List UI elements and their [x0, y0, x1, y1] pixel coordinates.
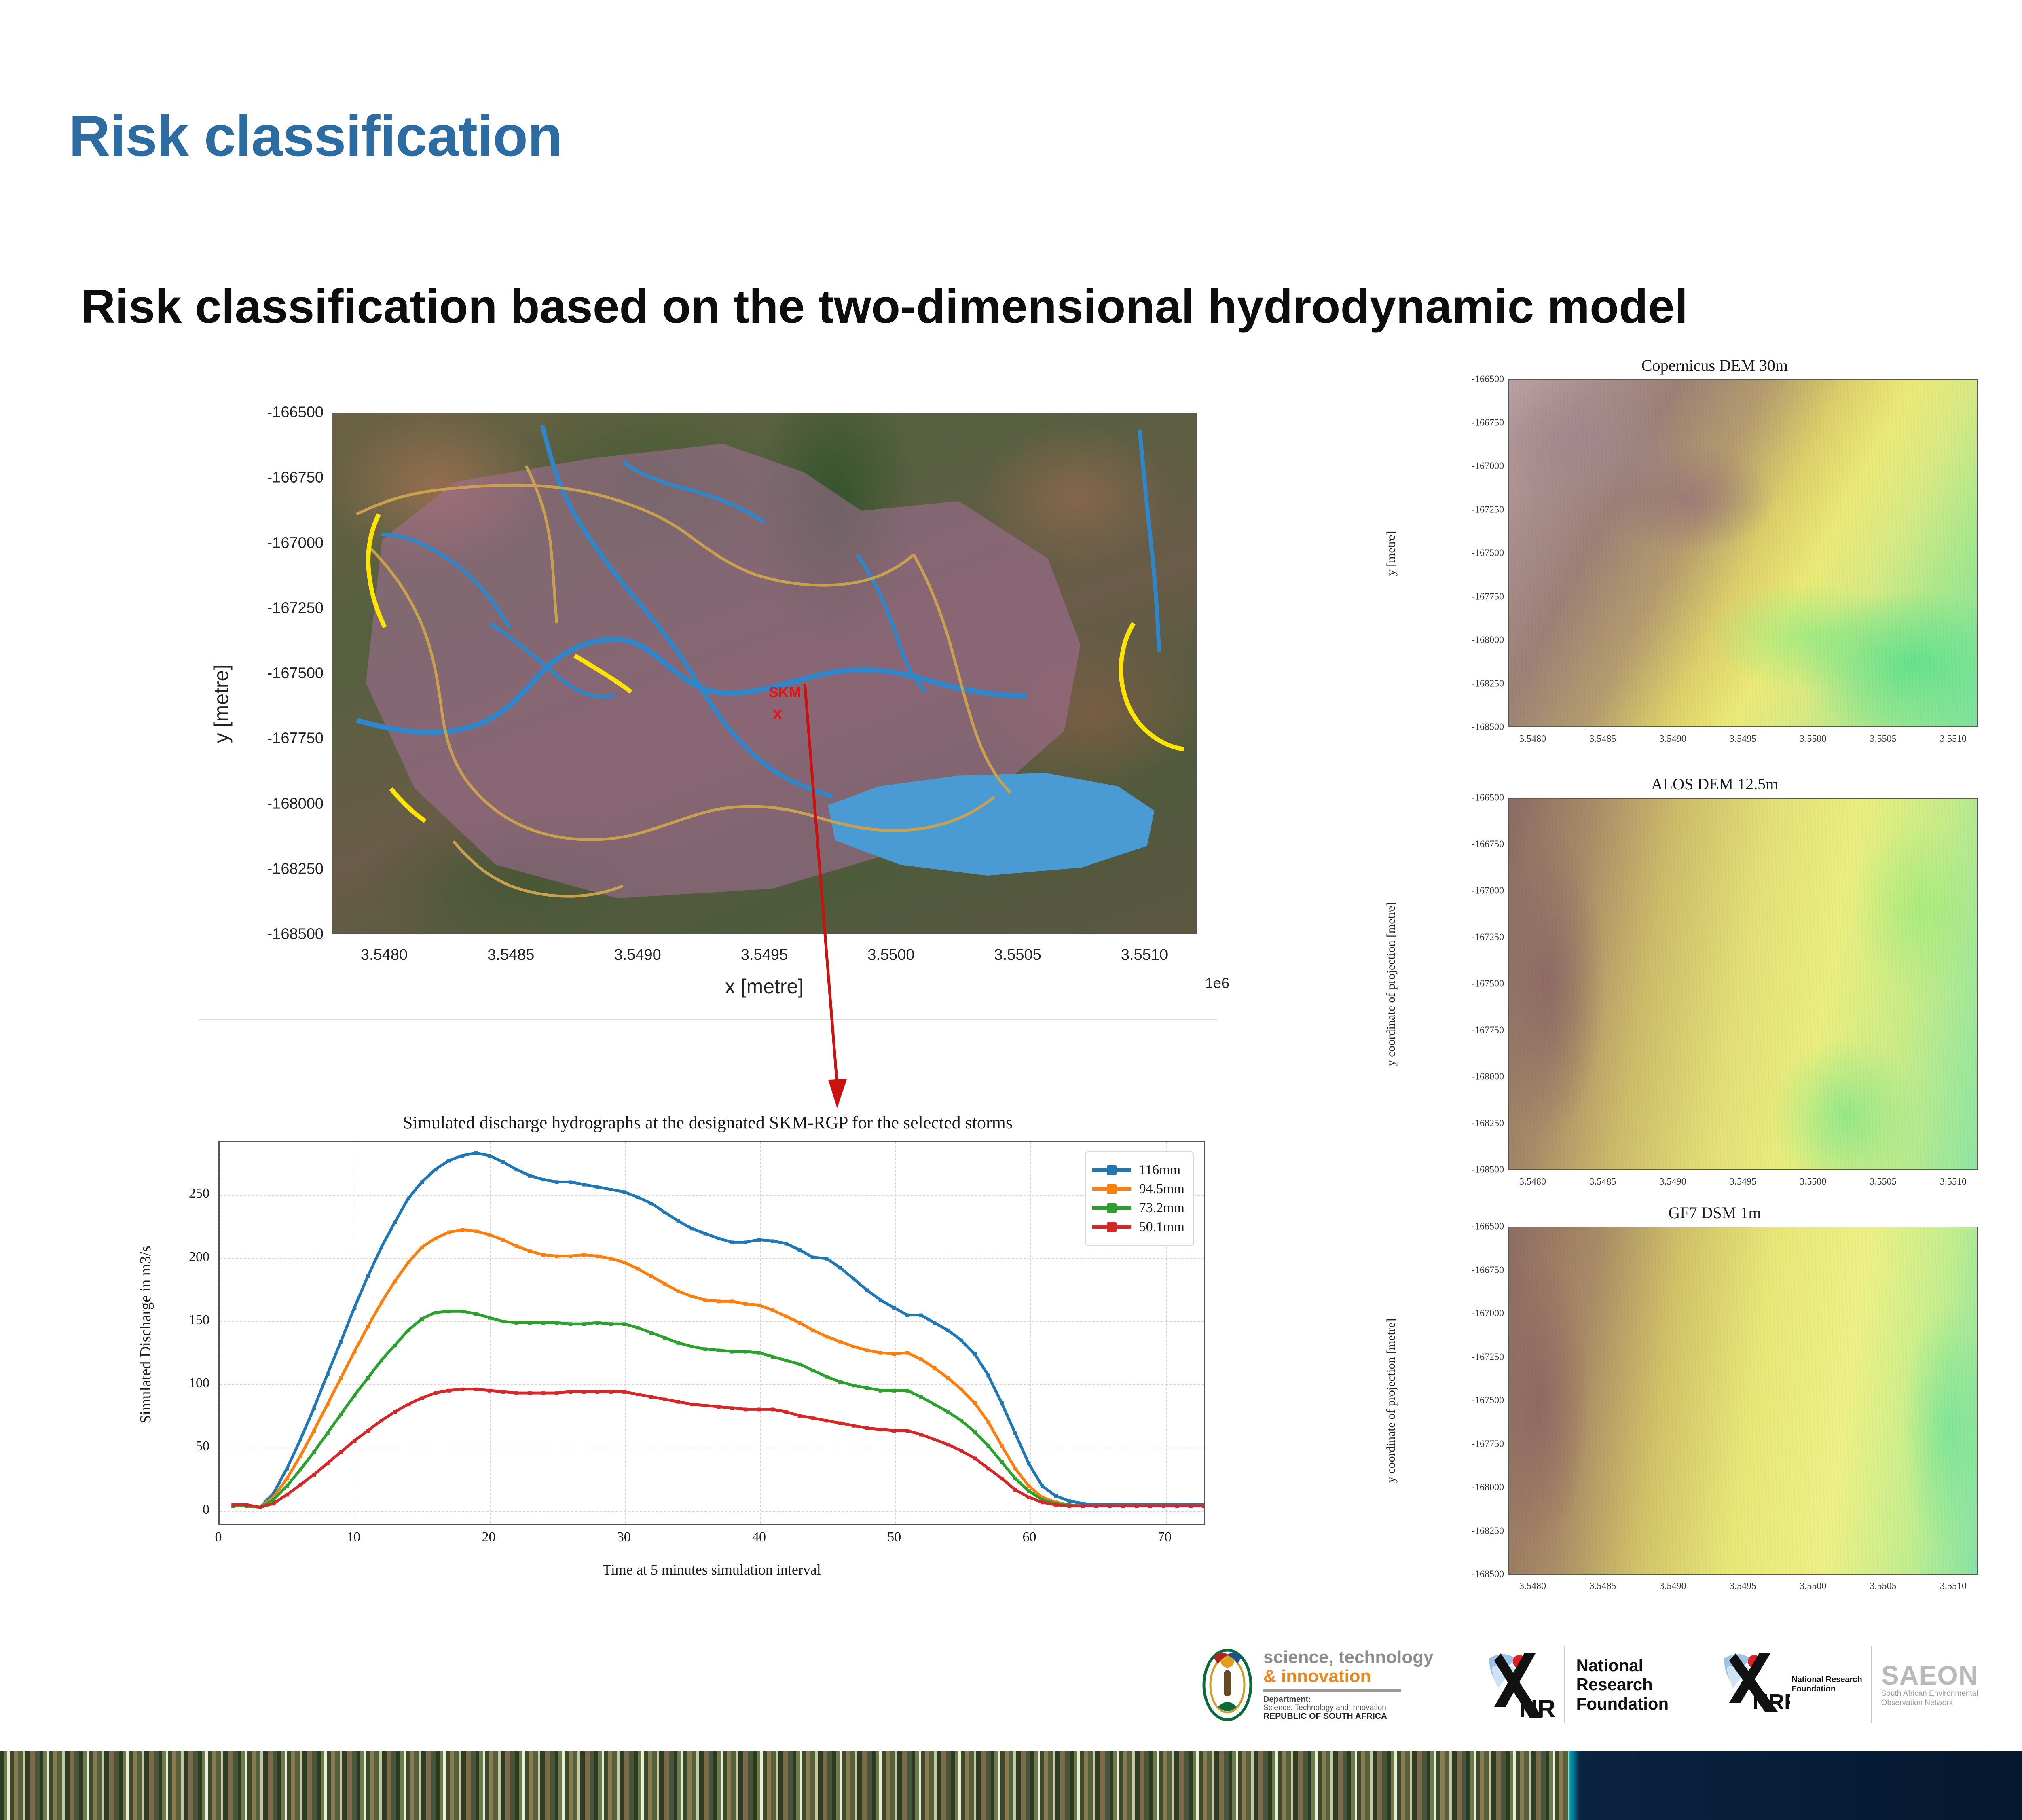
- dsti-rule: [1263, 1689, 1401, 1692]
- series-marker: [582, 1183, 586, 1187]
- series-marker: [973, 1457, 977, 1460]
- series-marker: [501, 1390, 505, 1394]
- series-marker: [582, 1253, 586, 1257]
- series-marker: [488, 1316, 491, 1320]
- series-marker: [838, 1380, 842, 1384]
- series-marker: [905, 1389, 909, 1393]
- dem-y-tick: -167250: [1472, 932, 1504, 943]
- series-marker: [1000, 1460, 1004, 1464]
- svg-text:NRF: NRF: [1519, 1695, 1555, 1723]
- series-marker: [1068, 1499, 1071, 1503]
- series-marker: [825, 1335, 828, 1338]
- satmap-y-tick: -166500: [267, 404, 324, 421]
- dsti-line1: science, technology: [1263, 1648, 1434, 1667]
- series-marker: [1189, 1505, 1193, 1508]
- legend-color-swatch: [1092, 1168, 1131, 1172]
- dem-y-tick: -167750: [1472, 591, 1504, 602]
- series-marker: [933, 1366, 936, 1370]
- dem-y-tick: -168000: [1472, 1072, 1504, 1083]
- series-marker: [1027, 1489, 1031, 1493]
- series-marker: [757, 1238, 761, 1242]
- legend-item[interactable]: 50.1mm: [1092, 1219, 1184, 1235]
- dem-y-axis-label: y coordinate of projection [metre]: [1384, 1318, 1398, 1483]
- dsti-line4: Science, Technology and Innovation: [1263, 1704, 1434, 1712]
- series-marker: [677, 1400, 680, 1404]
- series-marker: [596, 1255, 599, 1258]
- page-title: Risk classification: [69, 103, 562, 169]
- series-marker: [1013, 1431, 1017, 1435]
- series-marker: [649, 1331, 653, 1335]
- dem-y-tick: -168250: [1472, 678, 1504, 689]
- hydrograph-title: Simulated discharge hydrographs at the d…: [403, 1112, 1013, 1133]
- dem-x-tick: 3.5505: [1870, 1177, 1897, 1187]
- series-marker: [299, 1483, 302, 1487]
- series-marker: [703, 1232, 707, 1236]
- series-marker: [838, 1266, 842, 1270]
- dem-y-tick: -167500: [1472, 548, 1504, 559]
- series-marker: [1108, 1505, 1112, 1508]
- series-marker: [528, 1249, 532, 1253]
- dem-x-tick: 3.5480: [1519, 734, 1546, 745]
- series-marker: [892, 1306, 896, 1310]
- satmap-y-tick: -167500: [267, 665, 324, 682]
- series-marker: [326, 1372, 330, 1376]
- series-marker: [420, 1317, 424, 1321]
- series-marker: [434, 1237, 437, 1240]
- series-marker: [582, 1390, 586, 1394]
- dem-y-ticks: -166500-166750-167000-167250-167500-1677…: [1409, 798, 1506, 1170]
- hydrograph-y-axis-label: Simulated Discharge in m3/s: [137, 1246, 154, 1423]
- series-marker: [474, 1151, 478, 1155]
- series-marker: [717, 1237, 721, 1240]
- series-marker: [366, 1325, 370, 1328]
- series-marker: [798, 1248, 802, 1252]
- series-marker: [744, 1407, 747, 1411]
- series-marker: [1000, 1477, 1004, 1480]
- series-marker: [973, 1401, 977, 1405]
- series-line: [233, 1311, 1204, 1507]
- satmap-x-tick: 3.5485: [487, 946, 534, 964]
- series-marker: [960, 1449, 963, 1453]
- satmap-y-ticks: -166500-166750-167000-167250-167500-1677…: [231, 413, 324, 934]
- dem-y-tick: -168500: [1472, 1165, 1504, 1176]
- legend-item[interactable]: 73.2mm: [1092, 1200, 1184, 1216]
- series-marker: [407, 1261, 410, 1264]
- series-marker: [757, 1351, 761, 1355]
- series-marker: [717, 1405, 721, 1409]
- series-marker: [946, 1329, 950, 1332]
- series-marker: [838, 1422, 842, 1425]
- series-marker: [1054, 1494, 1058, 1498]
- dem-comparison-stack: Copernicus DEM 30my [metre]-166500-16675…: [1387, 356, 2022, 1618]
- series-marker: [663, 1211, 666, 1214]
- series-marker: [326, 1431, 330, 1435]
- strip-earth-imagery: [0, 1751, 1569, 1820]
- series-marker: [447, 1389, 451, 1393]
- legend-label: 116mm: [1139, 1162, 1181, 1178]
- dem-y-tick: -168250: [1472, 1526, 1504, 1536]
- series-marker: [838, 1340, 842, 1344]
- series-marker: [1202, 1505, 1204, 1508]
- logo-dsti: science, technology & innovation Departm…: [1197, 1634, 1434, 1735]
- series-marker: [555, 1255, 559, 1258]
- hydrograph-y-tick: 150: [189, 1312, 209, 1328]
- series-marker: [541, 1178, 545, 1181]
- series-marker: [339, 1340, 343, 1344]
- satmap-y-tick: -168000: [267, 795, 324, 813]
- satmap-x-tick: 3.5510: [1121, 946, 1168, 964]
- series-marker: [1175, 1505, 1179, 1508]
- series-marker: [730, 1299, 734, 1303]
- hydrograph-x-tick: 0: [215, 1530, 222, 1545]
- dem-panel-title: Copernicus DEM 30m: [1641, 356, 1788, 375]
- divider: [1871, 1646, 1872, 1723]
- series-marker: [771, 1239, 774, 1243]
- series-line: [233, 1153, 1204, 1507]
- series-marker: [1027, 1462, 1031, 1465]
- series-marker: [420, 1396, 424, 1400]
- series-marker: [690, 1345, 694, 1348]
- series-marker: [811, 1329, 815, 1332]
- series-marker: [326, 1462, 330, 1465]
- series-marker: [811, 1416, 815, 1420]
- series-marker: [1027, 1496, 1031, 1499]
- series-marker: [771, 1407, 774, 1411]
- series-marker: [717, 1348, 721, 1352]
- series-marker: [1135, 1505, 1138, 1508]
- dem-panel-title: ALOS DEM 12.5m: [1651, 775, 1778, 794]
- series-marker: [852, 1424, 855, 1428]
- series-marker: [703, 1347, 707, 1351]
- series-marker: [865, 1426, 869, 1430]
- satmap-y-tick: -166750: [267, 469, 324, 487]
- series-marker: [596, 1185, 599, 1189]
- series-marker: [286, 1477, 289, 1480]
- hydrograph-x-tick: 10: [347, 1530, 360, 1545]
- dem-y-tick: -167500: [1472, 979, 1504, 990]
- series-marker: [771, 1308, 774, 1312]
- series-marker: [447, 1310, 451, 1313]
- hydrograph-x-tick: 30: [617, 1530, 631, 1545]
- series-marker: [393, 1410, 397, 1414]
- series-marker: [865, 1348, 869, 1352]
- series-marker: [677, 1341, 680, 1345]
- series-marker: [933, 1403, 936, 1406]
- series-marker: [407, 1197, 410, 1200]
- series-marker: [663, 1398, 666, 1401]
- series-marker: [892, 1429, 896, 1433]
- series-marker: [946, 1376, 950, 1380]
- series-marker: [852, 1277, 855, 1280]
- series-marker: [299, 1438, 302, 1441]
- series-marker: [690, 1227, 694, 1230]
- series-marker: [811, 1256, 815, 1259]
- dem-x-tick: 3.5480: [1519, 1177, 1546, 1187]
- slide-root: Risk classification Risk classification …: [0, 0, 2022, 1820]
- series-marker: [649, 1274, 653, 1278]
- series-marker: [488, 1154, 491, 1158]
- series-marker: [515, 1168, 518, 1171]
- series-marker: [366, 1429, 370, 1433]
- series-marker: [946, 1443, 950, 1446]
- dem-y-axis-label: y coordinate of projection [metre]: [1384, 902, 1398, 1067]
- series-marker: [892, 1389, 896, 1393]
- dem-y-tick: -168500: [1472, 722, 1504, 733]
- series-marker: [1013, 1488, 1017, 1492]
- series-marker: [447, 1231, 451, 1234]
- series-marker: [339, 1450, 343, 1454]
- series-marker: [622, 1390, 626, 1394]
- legend-item[interactable]: 116mm: [1092, 1162, 1184, 1178]
- hydrograph-y-ticks: 050100150200250: [170, 1141, 214, 1525]
- dem-x-tick: 3.5495: [1730, 1581, 1756, 1592]
- dem-panel-title: GF7 DSM 1m: [1669, 1203, 1761, 1222]
- satmap-x-tick: 3.5505: [994, 946, 1041, 964]
- series-marker: [447, 1159, 451, 1163]
- series-marker: [1041, 1484, 1044, 1488]
- saeon-nrf-caption: National Research Foundation: [1791, 1675, 1862, 1694]
- bottom-decorative-strip: [0, 1751, 2022, 1820]
- satmap-x-exponent: 1e6: [1205, 975, 1229, 992]
- series-marker: [569, 1180, 572, 1184]
- legend-color-swatch: [1092, 1225, 1131, 1229]
- series-marker: [946, 1410, 950, 1414]
- nrf-emblem-icon: NRF: [1482, 1646, 1555, 1723]
- series-marker: [596, 1321, 599, 1325]
- series-marker: [852, 1345, 855, 1348]
- series-marker: [312, 1406, 316, 1410]
- series-marker: [622, 1190, 626, 1194]
- series-marker: [609, 1322, 613, 1326]
- dem-x-tick: 3.5510: [1940, 1177, 1967, 1187]
- saeon-wordmark: SAEON South African Environmental Observ…: [1881, 1661, 1978, 1708]
- series-marker: [757, 1304, 761, 1307]
- series-marker: [744, 1240, 747, 1244]
- series-marker: [649, 1202, 653, 1205]
- series-marker: [1000, 1444, 1004, 1448]
- series-marker: [258, 1506, 262, 1509]
- series-marker: [461, 1228, 464, 1232]
- nrf-line3: Foundation: [1576, 1694, 1669, 1713]
- series-marker: [286, 1484, 289, 1488]
- saeon-nrf-line2: Foundation: [1791, 1685, 1862, 1694]
- series-marker: [690, 1295, 694, 1298]
- series-marker: [663, 1282, 666, 1286]
- series-marker: [744, 1350, 747, 1354]
- series-marker: [488, 1389, 491, 1393]
- dem-y-tick: -166500: [1472, 374, 1504, 385]
- series-marker: [798, 1363, 802, 1366]
- series-marker: [879, 1351, 882, 1355]
- series-marker: [461, 1388, 464, 1391]
- dsti-line3: Department:: [1263, 1695, 1434, 1704]
- series-marker: [420, 1246, 424, 1249]
- series-marker: [339, 1413, 343, 1416]
- series-marker: [784, 1242, 788, 1246]
- series-marker: [461, 1310, 464, 1313]
- series-marker: [541, 1391, 545, 1395]
- series-marker: [515, 1244, 518, 1248]
- series-marker: [905, 1429, 909, 1433]
- series-marker: [312, 1450, 316, 1454]
- series-marker: [1027, 1484, 1031, 1488]
- series-marker: [1013, 1477, 1017, 1480]
- series-marker: [622, 1322, 626, 1326]
- nrf-wordmark: National Research Foundation: [1576, 1656, 1669, 1713]
- series-marker: [663, 1336, 666, 1340]
- dem-texture: [1509, 799, 1977, 1169]
- strip-space-imagery: [1569, 1751, 2022, 1820]
- series-marker: [286, 1493, 289, 1497]
- series-marker: [825, 1257, 828, 1261]
- series-marker: [1081, 1505, 1085, 1508]
- series-marker: [879, 1389, 882, 1393]
- satmap-y-tick: -167750: [267, 730, 324, 747]
- logo-saeon: NRF National Research Foundation SAEON S…: [1717, 1634, 1978, 1735]
- series-marker: [879, 1428, 882, 1431]
- dem-x-tick: 3.5490: [1660, 1177, 1686, 1187]
- series-marker: [825, 1419, 828, 1422]
- series-marker: [420, 1180, 424, 1184]
- nrf-line1: National: [1576, 1656, 1669, 1675]
- satmap-y-tick: -167250: [267, 599, 324, 617]
- satellite-catchment-map: y [metre] -166500-166750-167000-167250-1…: [198, 388, 1233, 1019]
- series-marker: [1000, 1401, 1004, 1405]
- svg-text:NRF: NRF: [1753, 1690, 1790, 1714]
- series-marker: [1162, 1505, 1165, 1508]
- hydrograph-y-tick: 50: [196, 1439, 209, 1454]
- legend-label: 94.5mm: [1139, 1181, 1184, 1197]
- series-marker: [474, 1388, 478, 1391]
- series-marker: [987, 1467, 990, 1470]
- dem-x-tick: 3.5485: [1589, 1177, 1616, 1187]
- legend-color-swatch: [1092, 1187, 1131, 1191]
- series-marker: [353, 1306, 356, 1310]
- series-marker: [474, 1229, 478, 1233]
- series-marker: [771, 1355, 774, 1359]
- saeon-nrf-line1: National Research: [1791, 1675, 1862, 1685]
- dsti-wordmark: science, technology & innovation Departm…: [1263, 1648, 1434, 1721]
- series-marker: [960, 1419, 963, 1422]
- series-marker: [905, 1314, 909, 1317]
- series-marker: [973, 1430, 977, 1434]
- series-marker: [528, 1321, 532, 1325]
- series-marker: [784, 1410, 788, 1414]
- series-marker: [852, 1384, 855, 1387]
- series-marker: [1054, 1503, 1058, 1507]
- hydrograph-series-canvas: [220, 1142, 1204, 1524]
- satmap-x-tick: 3.5480: [361, 946, 408, 964]
- dem-y-tick: -167250: [1472, 504, 1504, 515]
- dem-y-tick: -168000: [1472, 635, 1504, 646]
- series-marker: [865, 1386, 869, 1390]
- series-marker: [1148, 1505, 1152, 1508]
- series-marker: [393, 1221, 397, 1224]
- dem-raster-image: [1508, 1227, 1978, 1575]
- dem-x-tick: 3.5480: [1519, 1581, 1546, 1592]
- dem-x-tick: 3.5490: [1660, 1581, 1686, 1592]
- section-divider: [198, 1019, 1217, 1020]
- hydrograph-x-tick: 40: [752, 1530, 766, 1545]
- dem-y-tick: -168000: [1472, 1482, 1504, 1493]
- series-marker: [1013, 1467, 1017, 1470]
- satmap-y-tick: -168500: [267, 926, 324, 943]
- saeon-name: SAEON: [1881, 1661, 1978, 1689]
- series-marker: [569, 1390, 572, 1394]
- dem-raster-image: [1508, 379, 1978, 727]
- series-marker: [380, 1419, 383, 1422]
- series-marker: [677, 1219, 680, 1223]
- page-subtitle: Risk classification based on the two-dim…: [81, 279, 1688, 334]
- footer-partner-logos: science, technology & innovation Departm…: [1197, 1630, 2022, 1739]
- series-marker: [366, 1274, 370, 1278]
- series-marker: [744, 1302, 747, 1306]
- dem-y-tick: -166750: [1472, 839, 1504, 850]
- series-marker: [286, 1467, 289, 1470]
- series-marker: [879, 1298, 882, 1302]
- series-marker: [353, 1350, 356, 1354]
- dem-x-tick: 3.5505: [1870, 734, 1897, 745]
- series-marker: [231, 1503, 235, 1507]
- logo-nrf: NRF National Research Foundation: [1482, 1634, 1669, 1735]
- series-marker: [811, 1369, 815, 1372]
- dem-y-tick: -168250: [1472, 1118, 1504, 1129]
- dem-y-tick: -168500: [1472, 1569, 1504, 1580]
- dem-y-tick: -167750: [1472, 1025, 1504, 1036]
- series-marker: [461, 1154, 464, 1158]
- dem-y-tick: -167000: [1472, 461, 1504, 472]
- legend-item[interactable]: 94.5mm: [1092, 1181, 1184, 1197]
- nrf-emblem-small-icon: NRF: [1717, 1646, 1790, 1723]
- dem-x-tick: 3.5500: [1800, 734, 1826, 745]
- hydrograph-y-tick: 100: [189, 1376, 209, 1391]
- series-marker: [555, 1180, 559, 1184]
- dem-x-tick: 3.5500: [1800, 1581, 1826, 1592]
- hydrograph-x-tick: 70: [1158, 1530, 1172, 1545]
- series-marker: [933, 1321, 936, 1325]
- series-marker: [987, 1444, 990, 1448]
- series-marker: [541, 1321, 545, 1325]
- dem-y-axis-label: y [metre]: [1384, 531, 1398, 576]
- series-marker: [798, 1414, 802, 1418]
- south-africa-coat-of-arms-icon: [1197, 1646, 1258, 1723]
- series-marker: [609, 1390, 613, 1394]
- series-marker: [919, 1433, 923, 1437]
- series-marker: [380, 1359, 383, 1362]
- satmap-y-axis-label: y [metre]: [209, 665, 233, 743]
- series-marker: [987, 1420, 990, 1424]
- hydrograph-legend[interactable]: 116mm94.5mm73.2mm50.1mm: [1085, 1151, 1194, 1246]
- series-marker: [865, 1288, 869, 1292]
- series-marker: [919, 1395, 923, 1399]
- dem-y-tick: -167750: [1472, 1439, 1504, 1450]
- hydrograph-x-tick: 50: [887, 1530, 901, 1545]
- series-marker: [973, 1352, 977, 1356]
- series-marker: [596, 1390, 599, 1394]
- series-marker: [353, 1394, 356, 1397]
- satmap-y-tick: -168250: [267, 860, 324, 878]
- series-marker: [434, 1391, 437, 1395]
- dem-texture: [1509, 1227, 1977, 1574]
- series-marker: [515, 1391, 518, 1395]
- series-marker: [636, 1393, 640, 1396]
- dem-panel: ALOS DEM 12.5my coordinate of projection…: [1387, 775, 2022, 1203]
- series-marker: [987, 1374, 990, 1378]
- dem-y-tick: -167250: [1472, 1352, 1504, 1363]
- series-marker: [339, 1376, 343, 1380]
- discharge-hydrograph-chart: Simulated discharge hydrographs at the d…: [170, 1108, 1246, 1594]
- dem-y-tick: -166750: [1472, 1265, 1504, 1276]
